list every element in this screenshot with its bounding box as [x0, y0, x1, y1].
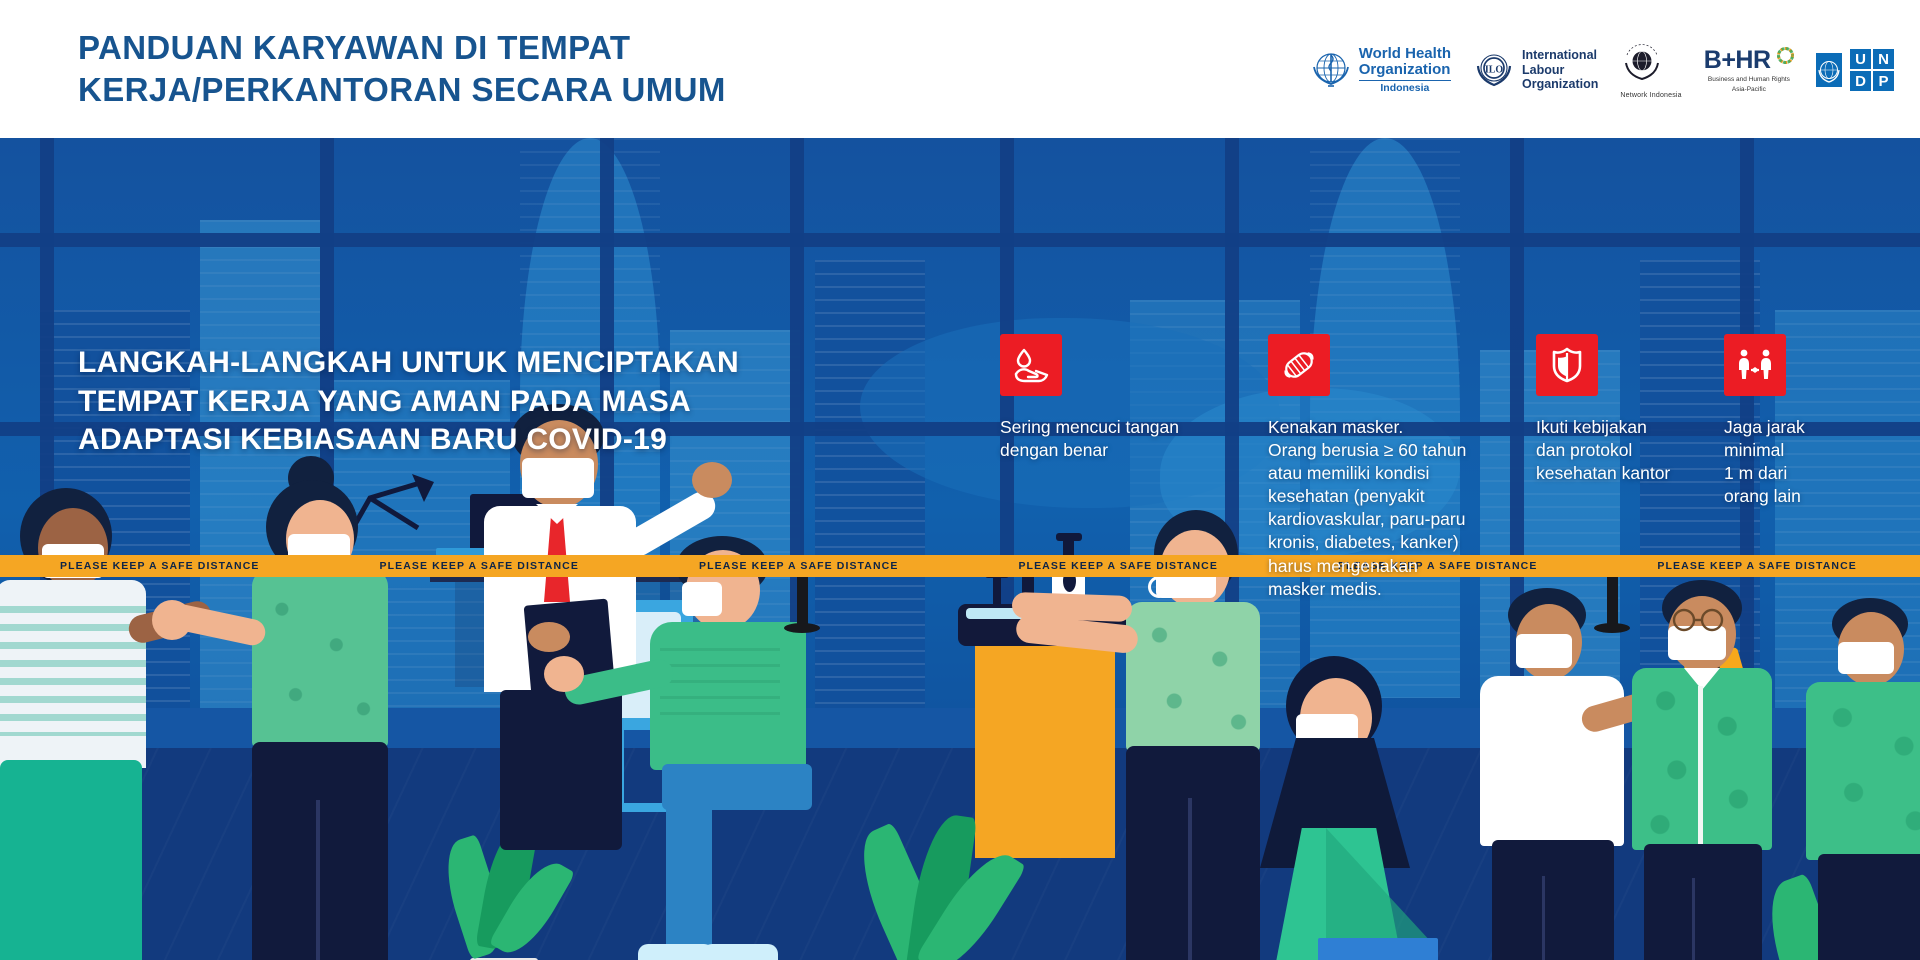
handwash-counter [975, 636, 1115, 858]
eyeglasses-icon [1666, 608, 1746, 634]
tip-office-policy: Ikuti kebijakan dan protokol kesehatan k… [1536, 334, 1706, 601]
trousers [252, 742, 388, 960]
tape-post-base [1594, 623, 1630, 633]
hand-open [544, 656, 584, 692]
scene-headline: LANGKAH-LANGKAH UNTUK MENCIPTAKAN TEMPAT… [78, 344, 798, 460]
illustration-scene: PLEASE KEEP A SAFE DISTANCE PLEASE KEEP … [0, 138, 1920, 960]
bhr-mark: B+HR [1704, 46, 1771, 74]
tip-office-policy-text: Ikuti kebijakan dan protokol kesehatan k… [1536, 416, 1706, 485]
tip-face-mask-text: Kenakan masker. Orang berusia ≥ 60 tahun… [1268, 416, 1518, 601]
trouser-seam [1692, 878, 1695, 960]
tip-handwashing-text: Sering mencuci tangan dengan benar [1000, 416, 1250, 462]
face-mask [682, 582, 722, 616]
trousers [1644, 844, 1762, 960]
trousers [500, 690, 622, 850]
ungc-emblem-icon: Network Indonesia [1620, 41, 1681, 99]
tip-social-distance: Jaga jarak minimal 1 m dari orang lain [1724, 334, 1874, 601]
svg-text:ILO: ILO [1485, 64, 1504, 75]
undp-letter-d: D [1849, 70, 1872, 92]
undp-un-emblem-icon [1816, 53, 1842, 87]
top-pattern [252, 570, 388, 748]
face-mask-icon [1268, 334, 1330, 396]
hand [152, 600, 192, 640]
person-man-right-edge [1810, 604, 1920, 960]
undp-logo: U N D P [1816, 48, 1862, 92]
face-mask [522, 458, 594, 498]
ilo-logo: ILO International Labour Organization [1473, 47, 1598, 94]
shirt-placket [1698, 686, 1703, 846]
trousers [1492, 840, 1614, 960]
shirt-stripes [0, 606, 146, 736]
bhr-logo-text: B+HR Business and Human Rights Asia-Paci… [1704, 46, 1794, 95]
skirt [0, 760, 142, 960]
trouser-seam [1542, 876, 1545, 960]
tape-label: PLEASE KEEP A SAFE DISTANCE [0, 560, 319, 572]
face-mask [1516, 634, 1572, 668]
ilo-emblem-icon: ILO [1473, 47, 1515, 94]
undp-letter-p: P [1872, 70, 1895, 92]
tape-post-base [784, 623, 820, 633]
bhr-logo: B+HR Business and Human Rights Asia-Paci… [1704, 46, 1794, 95]
hand [528, 622, 570, 652]
undp-letter-u: U [1849, 48, 1872, 70]
undp-letter-grid: U N D P [1849, 48, 1895, 92]
person-woman-hijab [1240, 678, 1470, 960]
ilo-logo-text: International Labour Organization [1522, 48, 1598, 92]
face-mask [1838, 642, 1894, 674]
who-logo: World Health Organization Indonesia [1310, 46, 1451, 93]
tape-label: PLEASE KEEP A SAFE DISTANCE [639, 560, 958, 572]
poster-header: PANDUAN KARYAWAN DI TEMPAT KERJA/PERKANT… [0, 0, 1920, 138]
who-logo-text: World Health Organization Indonesia [1359, 46, 1451, 93]
sneaker [702, 944, 778, 960]
tips-container: Sering mencuci tangan dengan benar [1000, 334, 1880, 601]
bag-pattern [1318, 938, 1438, 960]
person-seated-green-sweater [640, 578, 860, 960]
social-distance-icon [1724, 334, 1786, 396]
un-global-compact-logo: Network Indonesia [1620, 41, 1681, 99]
poster-title: PANDUAN KARYAWAN DI TEMPAT KERJA/PERKANT… [78, 27, 908, 110]
tape-label: PLEASE KEEP A SAFE DISTANCE [319, 560, 638, 572]
handwash-icon [1000, 334, 1062, 396]
torso-white-polo [1480, 676, 1624, 846]
who-emblem-icon [1310, 47, 1352, 94]
hand-open [692, 462, 732, 498]
leg [666, 804, 712, 952]
logo-strip: World Health Organization Indonesia ILO [1310, 28, 1862, 112]
bhr-subtitle-1: Business and Human Rights [1704, 76, 1794, 85]
sweater-texture [660, 648, 780, 728]
bhr-sdg-wheel-icon [1777, 46, 1794, 74]
trousers [1818, 854, 1920, 960]
undp-letter-n: N [1872, 48, 1895, 70]
tip-social-distance-text: Jaga jarak minimal 1 m dari orang lain [1724, 416, 1874, 508]
ungc-caption: Network Indonesia [1620, 92, 1681, 99]
shirt-pattern [1806, 682, 1920, 860]
person-woman-green-top [230, 470, 450, 960]
bhr-subtitle-2: Asia-Pacific [1704, 86, 1794, 95]
trouser-seam [316, 800, 320, 960]
shield-icon [1536, 334, 1598, 396]
tip-handwashing: Sering mencuci tangan dengan benar [1000, 334, 1250, 601]
trouser-seam [1188, 798, 1192, 960]
tip-face-mask: Kenakan masker. Orang berusia ≥ 60 tahun… [1268, 334, 1518, 601]
infographic-poster: PANDUAN KARYAWAN DI TEMPAT KERJA/PERKANT… [0, 0, 1920, 960]
